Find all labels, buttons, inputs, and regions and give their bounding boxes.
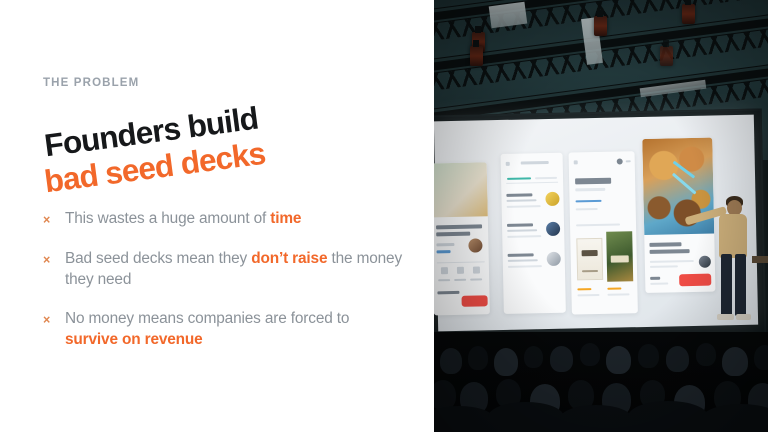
audience-head	[638, 344, 659, 368]
audience-head	[666, 346, 689, 372]
audience-head	[440, 348, 462, 374]
plain-phrase: No money means companies are forced to	[65, 310, 349, 327]
list-item: ×Bad seed decks mean they don’t raise th…	[43, 249, 403, 290]
audience-head	[696, 343, 716, 366]
speaker-leg-left	[721, 254, 732, 316]
stage-light-5	[660, 46, 673, 66]
audience-head	[580, 343, 600, 366]
speaker-leg-right	[735, 254, 746, 316]
cross-icon: ×	[43, 209, 65, 230]
highlighted-phrase: don’t raise	[251, 250, 327, 267]
stage-light-4	[470, 46, 483, 66]
highlighted-phrase: time	[270, 210, 301, 227]
list-item: ×This wastes a huge amount of time	[43, 209, 403, 230]
slide-root: THE PROBLEM Founders build bad seed deck…	[0, 0, 768, 432]
plain-phrase: This wastes a huge amount of	[65, 210, 270, 227]
audience-head	[722, 347, 748, 376]
stage-light-2	[594, 16, 607, 36]
audience-head	[606, 346, 631, 374]
speaker-shoe-left	[717, 314, 734, 320]
list-item: ×No money means companies are forced to …	[43, 309, 403, 350]
audience-shoulders	[628, 401, 708, 432]
audience-head	[550, 346, 573, 372]
speaker-shoe-right	[736, 314, 751, 320]
audience-shoulders	[488, 402, 564, 432]
audience-shoulders	[434, 406, 494, 432]
highlighted-phrase: survive on revenue	[65, 331, 203, 348]
audience-shoulders	[560, 405, 632, 432]
audience-shoulders	[702, 404, 768, 432]
conference-stage-photo	[434, 0, 768, 432]
podium-top	[752, 256, 768, 263]
slide-text-panel: THE PROBLEM Founders build bad seed deck…	[0, 0, 434, 432]
problem-bullet-list: ×This wastes a huge amount of time×Bad s…	[43, 209, 403, 350]
plain-phrase: Bad seed decks mean they	[65, 250, 251, 267]
mock-listing-card	[434, 162, 490, 315]
cross-icon: ×	[43, 249, 65, 270]
list-item-text: This wastes a huge amount of time	[65, 209, 301, 230]
list-item-text: Bad seed decks mean they don’t raise the…	[65, 249, 403, 290]
mock-messages-card	[501, 153, 566, 314]
audience-head	[754, 345, 768, 370]
cross-icon: ×	[43, 309, 65, 330]
ceiling-panel-1	[489, 2, 528, 29]
speaker-torso	[719, 214, 747, 258]
audience-head	[468, 346, 488, 370]
list-item-text: No money means companies are forced to s…	[65, 309, 403, 350]
projection-screen	[434, 115, 758, 332]
audience-head	[494, 348, 518, 376]
mock-city-card	[569, 151, 638, 314]
page-title: Founders build bad seed decks	[43, 102, 434, 176]
stage-light-3	[682, 4, 695, 24]
audience-head	[524, 346, 543, 368]
